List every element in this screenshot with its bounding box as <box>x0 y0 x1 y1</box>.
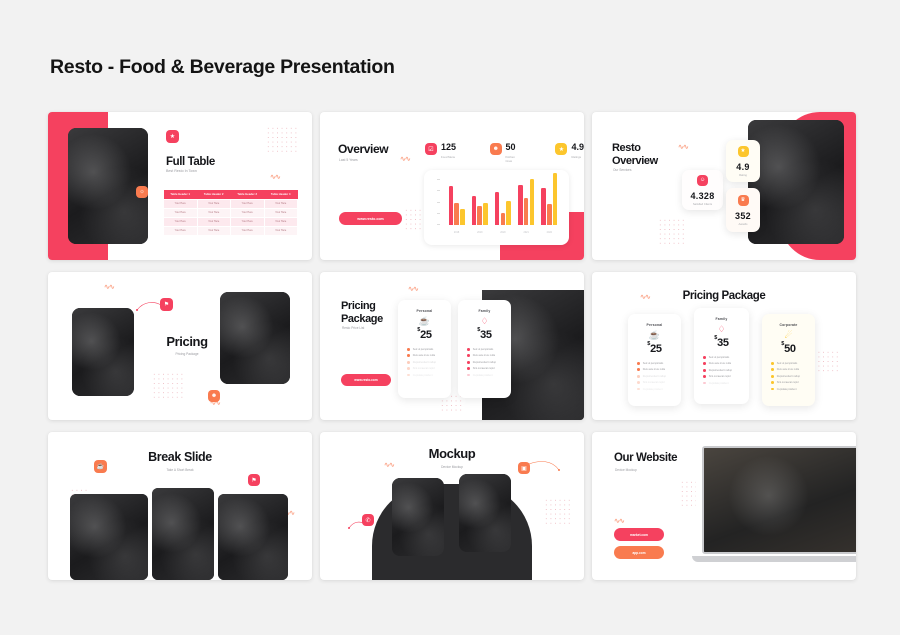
stat-label: Kitchen Crew <box>506 155 522 163</box>
plan-name: Family <box>716 317 728 321</box>
slide-resto-overview[interactable]: Resto Overview Our Services ∿∿ ☺ 4.328 S… <box>592 112 856 260</box>
title-line-2: Package <box>341 313 383 326</box>
pricing-card-family[interactable]: Family ♢ $35 Sed ut perspiciatis Duis au… <box>458 300 511 398</box>
slide-body-text <box>342 342 386 345</box>
slide-title: Resto Overview <box>612 142 658 168</box>
chart-bar <box>547 204 552 225</box>
slide-mockup[interactable]: Mockup Device Mockup ∿∿ ✆ ▣ <box>320 432 584 580</box>
feature-item: Duis aute irure nulla <box>771 368 806 371</box>
feature-item: Sed ut perspiciatis <box>771 362 806 365</box>
connector-line <box>348 520 366 530</box>
plan-name: Family <box>479 309 491 313</box>
dish-icon: ☑ <box>425 143 437 155</box>
feature-label: Duis aute irure nulla <box>413 354 435 357</box>
slide-title: Overview <box>338 142 388 156</box>
feature-item: Sint occaecat cupid <box>771 381 806 384</box>
slide-pricing[interactable]: Pricing Pricing Package ∿∿ ∿∿ ⚑ ☻ <box>48 272 312 420</box>
feature-item: Sed ut perspiciatis <box>467 348 502 351</box>
stat-label: Ratings <box>571 155 584 159</box>
feature-item: Reprehenderit nullup <box>467 361 502 364</box>
feature-label: Reprehenderit nullup <box>413 361 436 364</box>
bar-chart-card[interactable]: 20182019202020212022 <box>424 170 569 245</box>
slide-body-text <box>226 154 298 157</box>
price-amount: 25 <box>650 343 662 355</box>
chart-bar <box>477 206 482 225</box>
slide-subtitle: Take A Short Break <box>48 468 312 472</box>
plan-price: $25 <box>647 343 661 355</box>
feature-list: Sed ut perspiciatis Duis aute irure null… <box>628 362 681 394</box>
laptop-base <box>692 556 856 562</box>
feature-item: Cupidata proident <box>703 382 740 385</box>
bookmark-icon: ★ <box>166 130 179 143</box>
table-cell: Your Here <box>231 226 265 235</box>
slide-subtitle: Device Mockup <box>615 468 637 472</box>
feature-item: Reprehenderit nullup <box>637 375 672 378</box>
table-cell: Your Here <box>197 217 231 226</box>
slide-pricing-package-three[interactable]: Pricing Package ∿∿ Personal ☕ $25 Sed ut… <box>592 272 856 420</box>
chart-bar-group <box>449 186 465 225</box>
table-header-cell: Table Header 1 <box>164 190 198 199</box>
squiggle-decoration: ∿∿ <box>104 284 114 291</box>
slide-subtitle: Best Resto In Town <box>166 169 197 173</box>
pricing-card-personal[interactable]: Personal ☕ $25 Sed ut perspiciatis Duis … <box>628 314 681 406</box>
stat-value: 4.328 <box>690 191 714 201</box>
table-row: Your Here Your Here Your Here Your Here <box>164 208 298 217</box>
stat-item: ☻ 50 Kitchen Crew <box>490 143 521 163</box>
feature-label: Reprehenderit nullup <box>709 369 732 372</box>
squiggle-decoration: ∿∿ <box>640 294 650 301</box>
chart-x-label: 2020 <box>500 231 505 234</box>
feature-label: Sint occaecat cupid <box>777 381 799 384</box>
chart-y-axis <box>437 178 442 234</box>
feature-label: Sed ut perspiciatis <box>413 348 433 351</box>
table-cell: Your Here <box>264 226 298 235</box>
feature-label: Sint occaecat cupid <box>413 367 435 370</box>
feature-label: Sint occaecat cupid <box>473 367 495 370</box>
table-cell: Your Here <box>197 226 231 235</box>
stat-value: 352 <box>735 211 751 221</box>
feature-label: Sed ut perspiciatis <box>473 348 493 351</box>
table-cell: Your Here <box>231 217 265 226</box>
chef-icon: ☻ <box>490 143 502 155</box>
table-cell: Your Here <box>264 199 298 208</box>
stat-label: Awards <box>739 223 748 226</box>
dot-grid-decoration <box>658 218 685 246</box>
squiggle-decoration: ∿∿ <box>400 156 410 163</box>
chart-bar <box>553 173 558 225</box>
app-link-button[interactable]: app.com <box>614 546 664 559</box>
data-table[interactable]: Table Header 1 Table Header 2 Table Head… <box>163 190 298 236</box>
slide-title: Our Website <box>614 452 677 464</box>
table-cell: Your Here <box>197 208 231 217</box>
plan-name: Corporate <box>779 323 797 327</box>
feature-label: Sint occaecat cupid <box>643 381 665 384</box>
trophy-icon: ♛ <box>738 195 749 206</box>
slide-photo <box>70 494 148 580</box>
stat-label: Food Menu <box>441 155 456 159</box>
slide-body-text <box>339 174 407 177</box>
dot-grid-decoration <box>812 350 838 374</box>
pricing-card-family[interactable]: Family ♢ $35 Sed ut perspiciatis Duis au… <box>694 308 749 404</box>
feature-item: Cupidata proident <box>637 388 672 391</box>
stat-label: Satisfied Clients <box>693 203 712 206</box>
feature-item: Duis aute irure nulla <box>703 362 740 365</box>
chart-bar <box>460 209 465 225</box>
table-cell: Your Here <box>164 199 198 208</box>
market-link-button[interactable]: market.com <box>614 528 664 541</box>
feature-label: Reprehenderit nullup <box>777 375 800 378</box>
plan-name: Personal <box>647 323 663 327</box>
table-cell: Your Here <box>164 226 198 235</box>
feature-item: Duis aute irure nulla <box>467 354 502 357</box>
phone-mockup-left <box>392 478 444 556</box>
price-amount: 35 <box>480 329 492 341</box>
table-header-cell: Table Header 4 <box>264 190 298 199</box>
slide-title: Break Slide <box>48 450 312 464</box>
currency-symbol: $ <box>417 327 420 333</box>
slide-pricing-package-two[interactable]: Pricing Package Resto Price List ∿∿ www.… <box>320 272 584 420</box>
feature-item: Cupidata proident <box>771 388 806 391</box>
chart-x-labels: 20182019202020212022 <box>445 231 561 234</box>
table-cell: Your Here <box>164 208 198 217</box>
stat-value: 4.9 <box>736 162 749 172</box>
table-cell: Your Here <box>264 217 298 226</box>
stat-card[interactable]: ☺ 4.328 Satisfied Clients <box>682 170 723 210</box>
feature-label: Sed ut perspiciatis <box>643 362 663 365</box>
feature-label: Cupidata proident <box>473 374 493 377</box>
slide-title: Pricing <box>158 334 216 349</box>
feature-label: Duis aute irure nulla <box>473 354 495 357</box>
title-line-1: Pricing <box>341 300 383 313</box>
tag-icon: ⚑ <box>248 474 260 486</box>
table-cell: Your Here <box>264 208 298 217</box>
drink-icon: ☄ <box>784 331 792 340</box>
tag-icon: ⚑ <box>160 298 173 311</box>
dot-grid-decoration <box>544 498 570 524</box>
title-line-1: Resto <box>612 142 658 155</box>
feature-item: Reprehenderit nullup <box>771 375 806 378</box>
chart-bar <box>483 203 488 225</box>
feature-label: Sed ut perspiciatis <box>709 356 729 359</box>
dot-grid-decoration <box>404 208 422 230</box>
feature-item: Cupidata proident <box>467 374 502 377</box>
feature-list: Sed ut perspiciatis Duis aute irure null… <box>398 348 451 380</box>
slide-photo <box>152 488 214 580</box>
chart-bar <box>518 185 523 226</box>
slide-body-text <box>615 482 671 485</box>
plan-price: $35 <box>714 337 728 349</box>
feature-label: Duis aute irure nulla <box>777 368 799 371</box>
chart-plot-area <box>445 178 561 225</box>
table-cell: Your Here <box>231 208 265 217</box>
squiggle-decoration: ∿∿ <box>678 144 688 151</box>
stat-value: 125 <box>441 143 456 152</box>
chart-bar <box>454 203 459 225</box>
plan-price: $35 <box>477 329 491 341</box>
slide-title: Pricing Package <box>341 300 383 326</box>
slide-photo <box>68 128 148 244</box>
table-row: Your Here Your Here Your Here Your Here <box>164 217 298 226</box>
feature-item: Sed ut perspiciatis <box>407 348 442 351</box>
feature-item: Duis aute irure nulla <box>407 354 442 357</box>
table-cell: Your Here <box>164 217 198 226</box>
chart-x-label: 2022 <box>547 231 552 234</box>
chart-x-label: 2021 <box>523 231 528 234</box>
ribs-icon: ♢ <box>480 317 488 326</box>
stat-item: ★ 4.9 Ratings <box>555 143 584 163</box>
feature-label: Reprehenderit nullup <box>643 375 666 378</box>
squiggle-decoration: ∿∿ <box>408 286 418 293</box>
chef-icon: ☻ <box>208 390 220 402</box>
chart-bar-group <box>541 173 557 225</box>
feature-label: Cupidata proident <box>413 374 433 377</box>
currency-symbol: $ <box>647 341 650 347</box>
slide-photo <box>218 494 288 580</box>
chart-bar <box>449 186 454 225</box>
slide-photo-right <box>220 292 290 384</box>
stat-label: Rating <box>739 174 747 177</box>
chart-bar <box>501 213 506 225</box>
slide-subtitle: Resto Price List <box>342 326 364 330</box>
bar-chart: 20182019202020212022 <box>437 178 561 234</box>
feature-list: Sed ut perspiciatis Duis aute irure null… <box>762 362 815 394</box>
slide-subtitle: Pricing Package <box>158 352 216 356</box>
feature-item: Cupidata proident <box>407 374 442 377</box>
secondary-badge-icon: ☼ <box>136 186 148 198</box>
feature-item: Sint occaecat cupid <box>703 375 740 378</box>
slide-full-table[interactable]: ★ ☼ Full Table Best Resto In Town ∿∿ Tab… <box>48 112 312 260</box>
pricing-card-corporate[interactable]: Corporate ☄ $50 Sed ut perspiciatis Duis… <box>762 314 815 406</box>
stat-card[interactable]: ★ 4.9 Rating <box>726 140 760 182</box>
table-row: Your Here Your Here Your Here Your Here <box>164 226 298 235</box>
dot-grid-decoration <box>152 372 186 398</box>
feature-item: Reprehenderit nullup <box>703 369 740 372</box>
stat-value: 4.9 <box>571 143 584 152</box>
chart-bar <box>495 192 500 225</box>
presentation-preview-page: Resto - Food & Beverage Presentation ★ ☼… <box>0 0 900 635</box>
people-icon: ☺ <box>697 175 708 186</box>
stat-card[interactable]: ♛ 352 Awards <box>726 188 760 232</box>
chart-bar-group <box>472 196 488 225</box>
pricing-card-personal[interactable]: Personal ☕ $25 Sed ut perspiciatis Duis … <box>398 300 451 398</box>
table-header-row: Table Header 1 Table Header 2 Table Head… <box>164 190 298 199</box>
laptop-mockup <box>702 446 856 562</box>
squiggle-decoration: ∿∿ <box>270 174 280 181</box>
chart-bar-group <box>518 179 534 225</box>
feature-item: Sint occaecat cupid <box>467 367 502 370</box>
slide-our-website[interactable]: Our Website Device Mockup ∿∿ market.com … <box>592 432 856 580</box>
slide-title: Full Table <box>166 156 215 168</box>
table-row: Your Here Your Here Your Here Your Here <box>164 199 298 208</box>
table-header-cell: Table Header 2 <box>197 190 231 199</box>
feature-label: Sed ut perspiciatis <box>777 362 797 365</box>
connector-line <box>136 300 162 312</box>
feature-item: Sint occaecat cupid <box>637 381 672 384</box>
chart-bar <box>524 198 529 225</box>
feature-item: Sed ut perspiciatis <box>637 362 672 365</box>
feature-item: Reprehenderit nullup <box>407 361 442 364</box>
chart-x-label: 2018 <box>454 231 459 234</box>
ribs-icon: ♢ <box>717 325 725 334</box>
table-cell: Your Here <box>197 199 231 208</box>
page-title: Resto - Food & Beverage Presentation <box>50 56 395 79</box>
feature-label: Sint occaecat cupid <box>709 375 731 378</box>
stat-item: ☑ 125 Food Menu <box>425 143 456 163</box>
plan-price: $50 <box>781 343 795 355</box>
slide-body-text <box>613 182 665 185</box>
slide-title: Pricing Package <box>592 290 856 302</box>
slide-break[interactable]: Break Slide Take A Short Break ☕ ⚑ ∿∿ <box>48 432 312 580</box>
feature-item: Duis aute irure nulla <box>637 368 672 371</box>
feature-label: Cupidata proident <box>643 388 663 391</box>
price-amount: 35 <box>717 337 729 349</box>
slides-grid: ★ ☼ Full Table Best Resto In Town ∿∿ Tab… <box>48 112 856 580</box>
title-line-2: Overview <box>612 155 658 168</box>
stats-row: ☑ 125 Food Menu ☻ 50 Kitchen Crew ★ <box>425 143 584 163</box>
star-icon: ★ <box>555 143 567 155</box>
feature-item: Sint occaecat cupid <box>407 367 442 370</box>
feature-label: Reprehenderit nullup <box>473 361 496 364</box>
price-amount: 50 <box>784 343 796 355</box>
chart-bar <box>530 179 535 225</box>
table-cell: Your Here <box>231 199 265 208</box>
stat-value: 50 <box>506 143 522 152</box>
star-icon: ★ <box>738 146 749 157</box>
chart-bar <box>541 188 546 225</box>
feature-label: Duis aute irure nulla <box>643 368 665 371</box>
feature-list: Sed ut perspiciatis Duis aute irure null… <box>694 356 749 388</box>
squiggle-decoration: ∿∿ <box>384 462 394 469</box>
coffee-icon: ☕ <box>94 460 107 473</box>
chart-bar <box>472 196 477 225</box>
dot-grid-decoration <box>266 126 300 152</box>
plan-name: Personal <box>417 309 433 313</box>
chart-bar <box>506 201 511 225</box>
table-header-cell: Table Header 3 <box>231 190 265 199</box>
slide-photo <box>748 120 844 244</box>
currency-symbol: $ <box>477 327 480 333</box>
website-button[interactable]: www.resto.com <box>339 212 402 225</box>
website-button[interactable]: www.resto.com <box>341 374 391 386</box>
burger-icon: ☕ <box>649 331 660 340</box>
burger-icon: ☕ <box>419 317 430 326</box>
currency-symbol: $ <box>781 341 784 347</box>
laptop-screen <box>702 446 856 554</box>
feature-item: Sed ut perspiciatis <box>703 356 740 359</box>
slide-subtitle: Our Services <box>613 168 631 172</box>
feature-label: Cupidata proident <box>709 382 729 385</box>
price-amount: 25 <box>420 329 432 341</box>
squiggle-decoration: ∿∿ <box>614 518 624 525</box>
feature-list: Sed ut perspiciatis Duis aute irure null… <box>458 348 511 380</box>
feature-label: Cupidata proident <box>777 388 797 391</box>
plan-price: $25 <box>417 329 431 341</box>
slide-overview[interactable]: Overview Last 5 Years ∿∿ www.resto.com ☑… <box>320 112 584 260</box>
chart-bar-group <box>495 192 511 225</box>
connector-line <box>528 458 560 472</box>
feature-label: Duis aute irure nulla <box>709 362 731 365</box>
phone-mockup-right <box>459 474 511 552</box>
slide-subtitle: Last 5 Years <box>339 158 358 162</box>
chart-x-label: 2019 <box>477 231 482 234</box>
slide-photo-left <box>72 308 134 396</box>
currency-symbol: $ <box>714 335 717 341</box>
dot-grid-decoration <box>680 480 696 506</box>
